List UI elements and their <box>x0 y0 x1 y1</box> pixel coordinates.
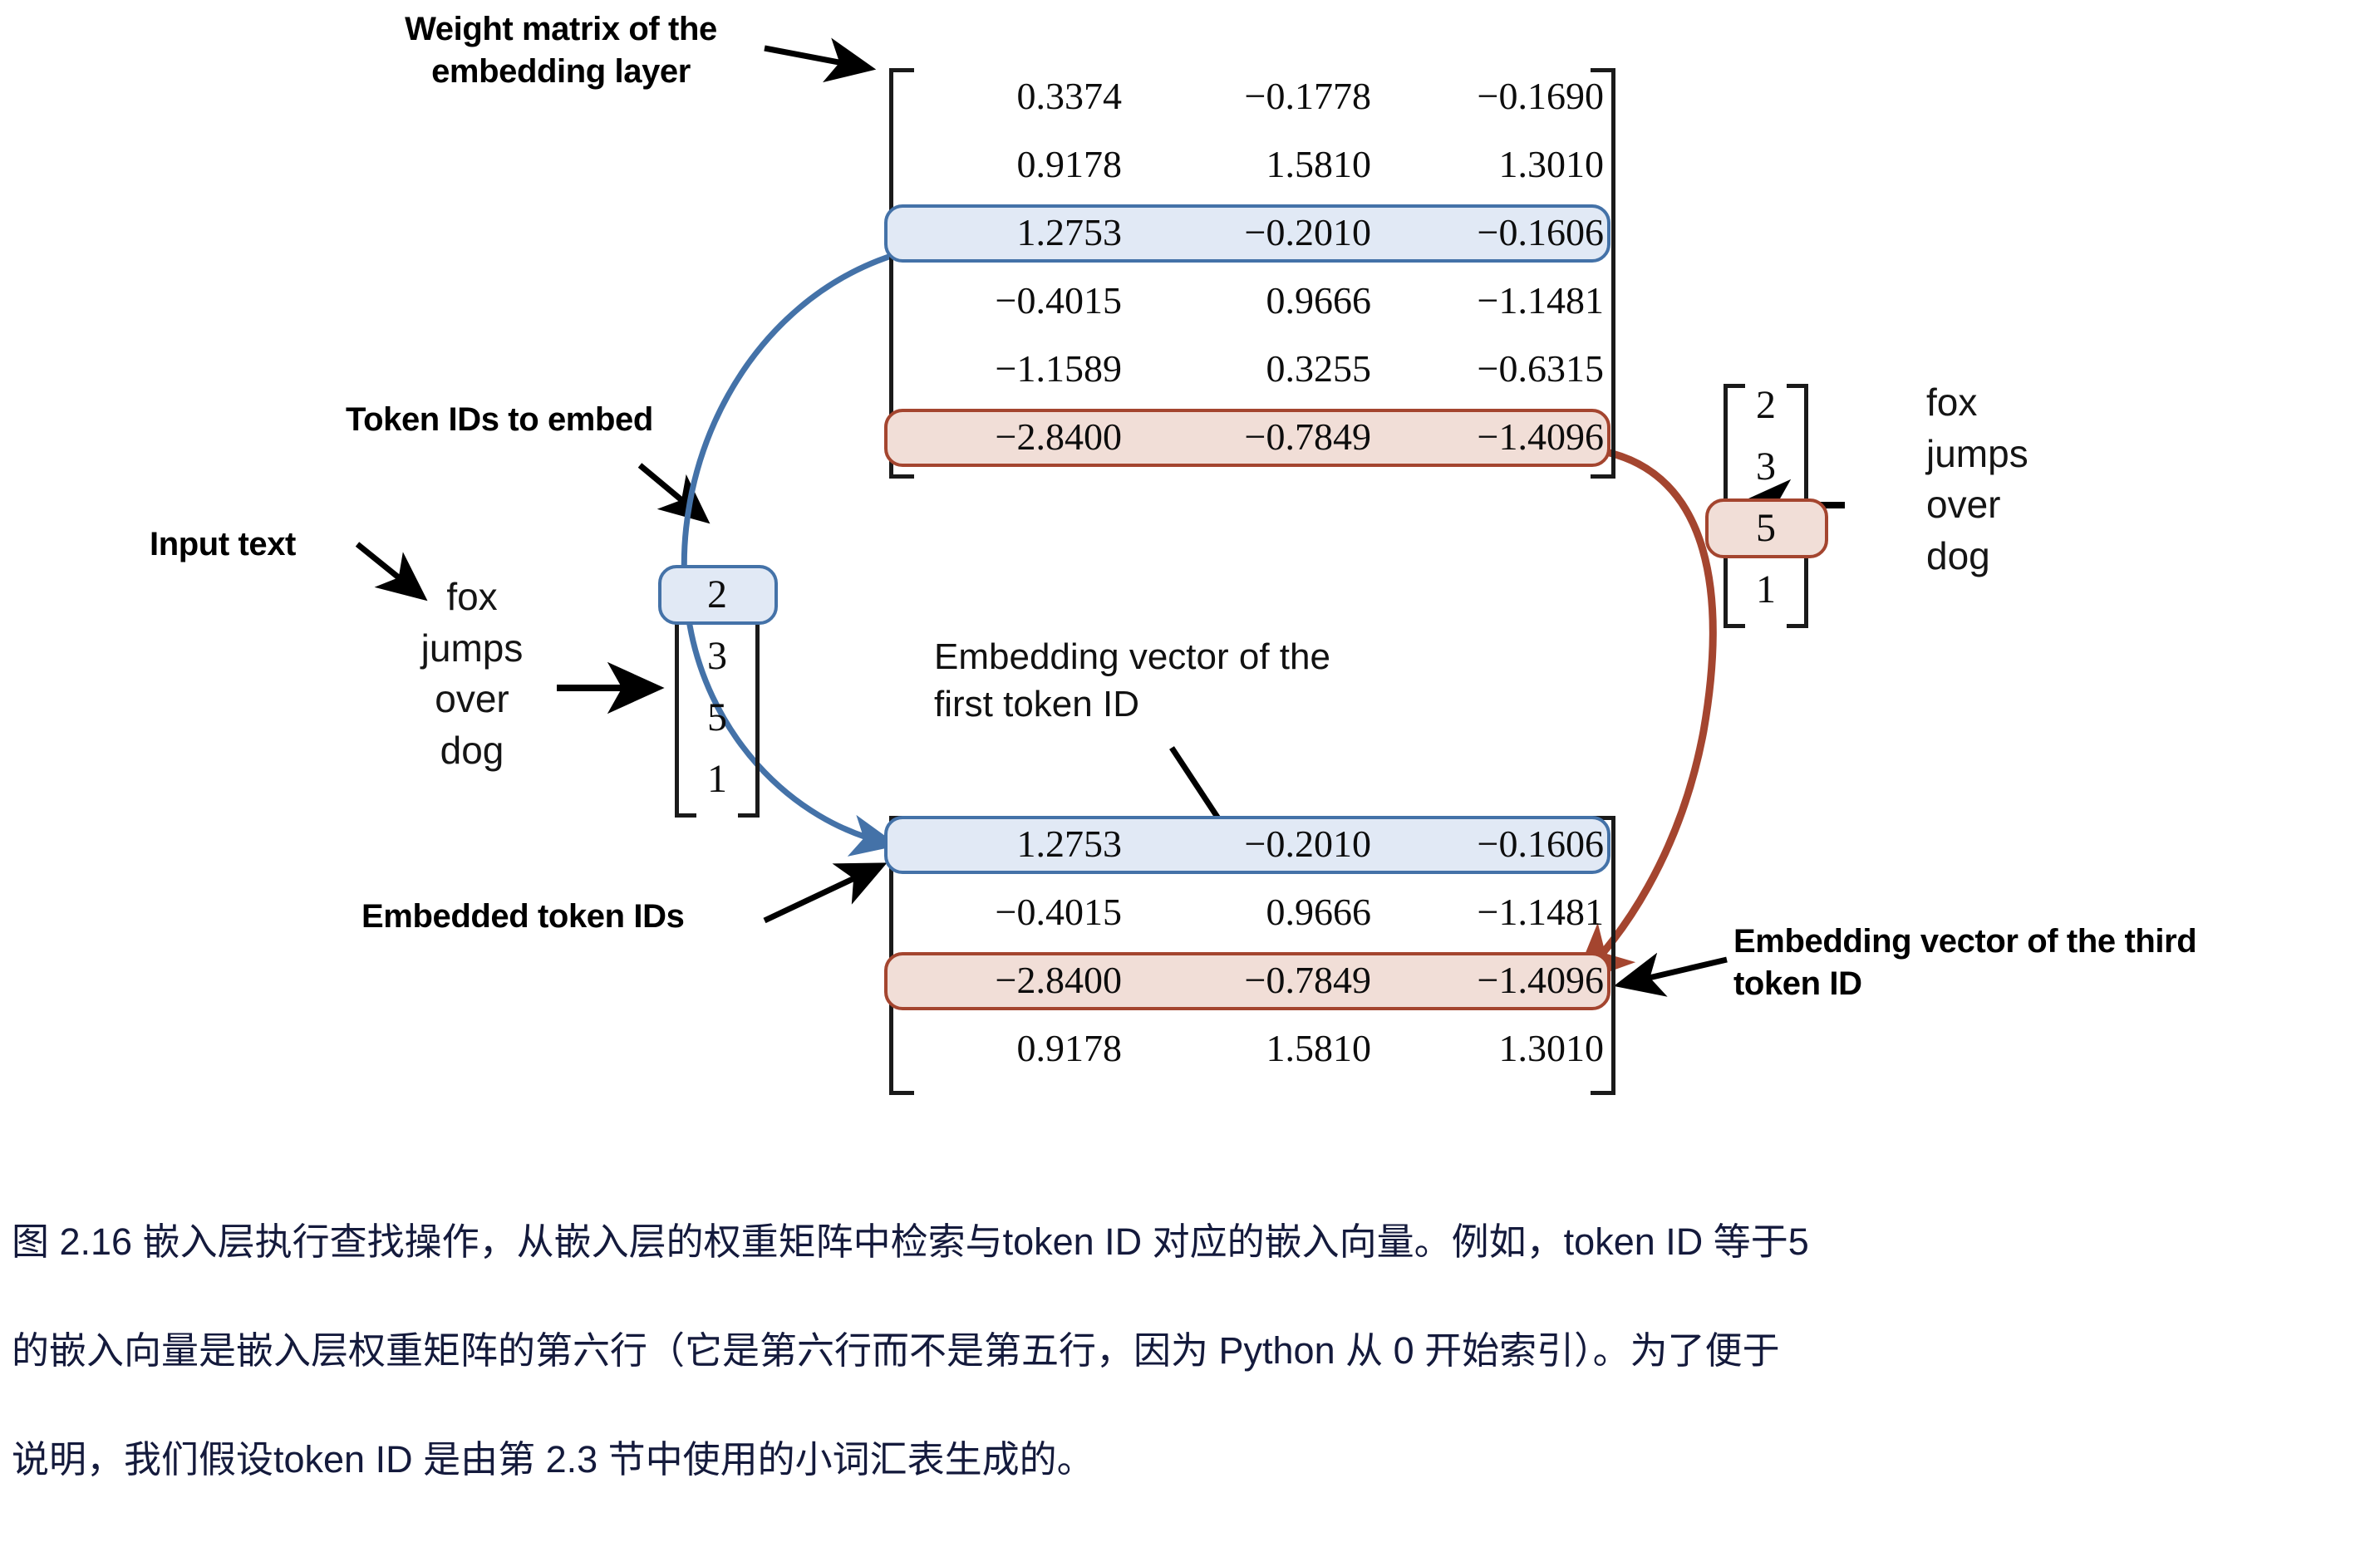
matrix-row: 1.2753−0.2010−0.1606 <box>899 199 1597 268</box>
matrix-cell: 0.3255 <box>1148 344 1371 394</box>
token-id: 5 <box>661 698 773 738</box>
right-token-ids-vector: 2 3 5 1 <box>1710 372 1827 638</box>
right-word: dog <box>1926 531 2109 582</box>
matrix-cell: −0.1778 <box>1148 71 1371 121</box>
matrix-cell: −0.4015 <box>899 276 1122 326</box>
matrix-row: −1.15890.3255−0.6315 <box>899 336 1597 404</box>
token-id: 2 <box>1710 385 1822 425</box>
matrix-cell: −0.1606 <box>1381 819 1604 869</box>
matrix-cell: −0.7849 <box>1148 955 1371 1005</box>
token-id: 2 <box>661 575 773 615</box>
weight-matrix-arrow <box>765 48 869 68</box>
right-token-id-digits: 2 3 5 1 <box>1710 385 1822 610</box>
matrix-row: −2.8400−0.7849−1.4096 <box>899 404 1597 472</box>
left-token-id-digits: 2 3 5 1 <box>661 575 773 799</box>
input-word: dog <box>391 725 553 777</box>
weight-matrix-label: Weight matrix of the embedding layer <box>366 8 756 93</box>
matrix-cell: −1.4096 <box>1381 955 1604 1005</box>
matrix-cell: 1.3010 <box>1381 140 1604 189</box>
right-word: jumps <box>1926 429 2109 480</box>
matrix-cell: 0.9666 <box>1148 276 1371 326</box>
right-word: fox <box>1926 377 2109 429</box>
matrix-cell: 1.5810 <box>1148 140 1371 189</box>
matrix-cell: 1.3010 <box>1381 1024 1604 1073</box>
input-text-label: Input text <box>150 523 416 566</box>
token-id: 5 <box>1710 508 1822 548</box>
left-token-ids-vector: 2 3 5 1 <box>661 562 778 827</box>
figure-caption: 图 2.16 嵌入层执行查找操作，从嵌入层的权重矩阵中检索与token ID 对… <box>12 1160 2372 1542</box>
matrix-cell: 0.3374 <box>899 71 1122 121</box>
token-id: 3 <box>1710 447 1822 487</box>
matrix-row: 1.2753−0.2010−0.1606 <box>899 811 1597 879</box>
caption-line-3: 说明，我们假设token ID 是由第 2.3 节中使用的小词汇表生成的。 <box>12 1432 2372 1487</box>
matrix-row: −0.40150.9666−1.1481 <box>899 879 1597 947</box>
figure-canvas: Weight matrix of the embedding layer Tok… <box>0 0 2380 1394</box>
matrix-row: 0.91781.58101.3010 <box>899 131 1597 199</box>
token-id: 3 <box>661 636 773 676</box>
matrix-row: 0.91781.58101.3010 <box>899 1015 1597 1083</box>
embedded-matrix: 1.2753−0.2010−0.1606−0.40150.9666−1.1481… <box>883 808 1614 1103</box>
matrix-row: −0.40150.9666−1.1481 <box>899 268 1597 336</box>
weight-matrix: 0.3374−0.1778−0.16900.91781.58101.30101.… <box>883 60 1614 485</box>
matrix-cell: −0.2010 <box>1148 208 1371 258</box>
matrix-cell: −2.8400 <box>899 412 1122 462</box>
matrix-cell: −0.6315 <box>1381 344 1604 394</box>
matrix-cell: 1.5810 <box>1148 1024 1371 1073</box>
matrix-cell: −2.8400 <box>899 955 1122 1005</box>
matrix-cell: −1.1481 <box>1381 887 1604 937</box>
token-ids-to-embed-label: Token IDs to embed <box>346 399 736 441</box>
matrix-cell: −1.1481 <box>1381 276 1604 326</box>
matrix-row: −2.8400−0.7849−1.4096 <box>899 947 1597 1015</box>
input-words-column: fox jumps over dog <box>391 572 553 777</box>
matrix-cell: 0.9666 <box>1148 887 1371 937</box>
matrix-cell: 1.2753 <box>899 208 1122 258</box>
matrix-cell: −0.4015 <box>899 887 1122 937</box>
matrix-cell: 0.9178 <box>899 1024 1122 1073</box>
matrix-cell: 0.9178 <box>899 140 1122 189</box>
matrix-cell: −0.2010 <box>1148 819 1371 869</box>
matrix-cell: −0.1606 <box>1381 208 1604 258</box>
token-ids-arrow <box>640 465 705 519</box>
right-words-column: fox jumps over dog <box>1926 377 2109 582</box>
matrix-row: 0.3374−0.1778−0.1690 <box>899 63 1597 131</box>
matrix-cell: −0.1690 <box>1381 71 1604 121</box>
input-word: over <box>391 674 553 725</box>
third-token-vector-label: Embedding vector of the third token ID <box>1733 921 2315 1005</box>
input-word: fox <box>391 572 553 623</box>
input-word: jumps <box>391 623 553 675</box>
matrix-cell: −1.4096 <box>1381 412 1604 462</box>
token-id: 1 <box>661 759 773 799</box>
caption-line-2: 的嵌入向量是嵌入层权重矩阵的第六行（它是第六行而不是第五行，因为 Python … <box>12 1323 2372 1378</box>
third-token-vector-arrow <box>1620 960 1727 985</box>
right-word: over <box>1926 479 2109 531</box>
caption-line-1: 图 2.16 嵌入层执行查找操作，从嵌入层的权重矩阵中检索与token ID 对… <box>12 1215 2372 1269</box>
embedded-token-ids-label: Embedded token IDs <box>361 896 794 938</box>
token-id: 1 <box>1710 570 1822 610</box>
matrix-cell: −0.7849 <box>1148 412 1371 462</box>
matrix-cell: −1.1589 <box>899 344 1122 394</box>
matrix-cell: 1.2753 <box>899 819 1122 869</box>
first-token-vector-label: Embedding vector of the first token ID <box>934 633 1466 728</box>
